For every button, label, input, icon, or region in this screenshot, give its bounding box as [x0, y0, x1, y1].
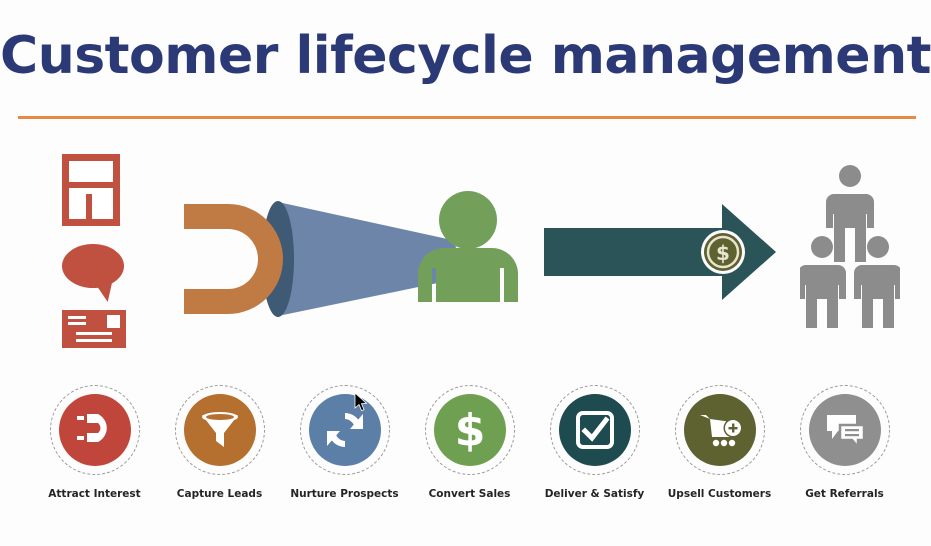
checkbox-icon: [573, 408, 617, 452]
magnet-icon: [73, 410, 117, 450]
stage-label: Nurture Prospects: [274, 488, 415, 500]
svg-text:$: $: [716, 241, 730, 265]
cart-plus-icon: [697, 409, 743, 451]
stage-label: Upsell Customers: [649, 488, 790, 500]
revenue-arrow-icon: $: [540, 200, 780, 305]
lifecycle-stage-convert-sales[interactable]: $ Convert Sales: [413, 385, 526, 507]
page-title: Customer lifecycle management: [0, 28, 931, 85]
stage-label: Get Referrals: [774, 488, 915, 500]
stage-label: Attract Interest: [24, 488, 165, 500]
speech-bubble-icon: [62, 244, 124, 288]
chat-bubbles-icon: [822, 409, 868, 451]
newspaper-icon: [62, 154, 120, 226]
referral-people-icon: [800, 162, 900, 332]
customer-person-icon: [408, 190, 528, 305]
stage-disc: $: [434, 394, 506, 466]
refresh-cycle-icon: [323, 408, 367, 452]
stage-label: Deliver & Satisfy: [524, 488, 665, 500]
lifecycle-stage-upsell-customers[interactable]: Upsell Customers: [663, 385, 776, 507]
lifecycle-stage-attract-interest[interactable]: Attract Interest: [38, 385, 151, 507]
envelope-icon: [62, 310, 126, 348]
lifecycle-stage-nurture-prospects[interactable]: Nurture Prospects: [288, 385, 401, 507]
lifecycle-stage-deliver-satisfy[interactable]: Deliver & Satisfy: [538, 385, 651, 507]
stage-label: Convert Sales: [399, 488, 540, 500]
svg-text:$: $: [454, 406, 485, 454]
magnet-icon: [180, 198, 285, 320]
hero-illustration: $: [0, 140, 931, 365]
lifecycle-stage-get-referrals[interactable]: Get Referrals: [788, 385, 901, 507]
stage-disc: [184, 394, 256, 466]
stage-label: Capture Leads: [149, 488, 290, 500]
title-divider: [18, 116, 916, 119]
lifecycle-strip: Attract Interest Capture Leads: [0, 385, 931, 510]
dollar-icon: $: [448, 406, 492, 454]
stage-disc: [809, 394, 881, 466]
marketing-channels-group: [62, 154, 134, 348]
stage-disc: [59, 394, 131, 466]
stage-disc: [684, 394, 756, 466]
stage-disc: [309, 394, 381, 466]
stage-disc: [559, 394, 631, 466]
funnel-icon: [198, 409, 242, 451]
lifecycle-stage-capture-leads[interactable]: Capture Leads: [163, 385, 276, 507]
